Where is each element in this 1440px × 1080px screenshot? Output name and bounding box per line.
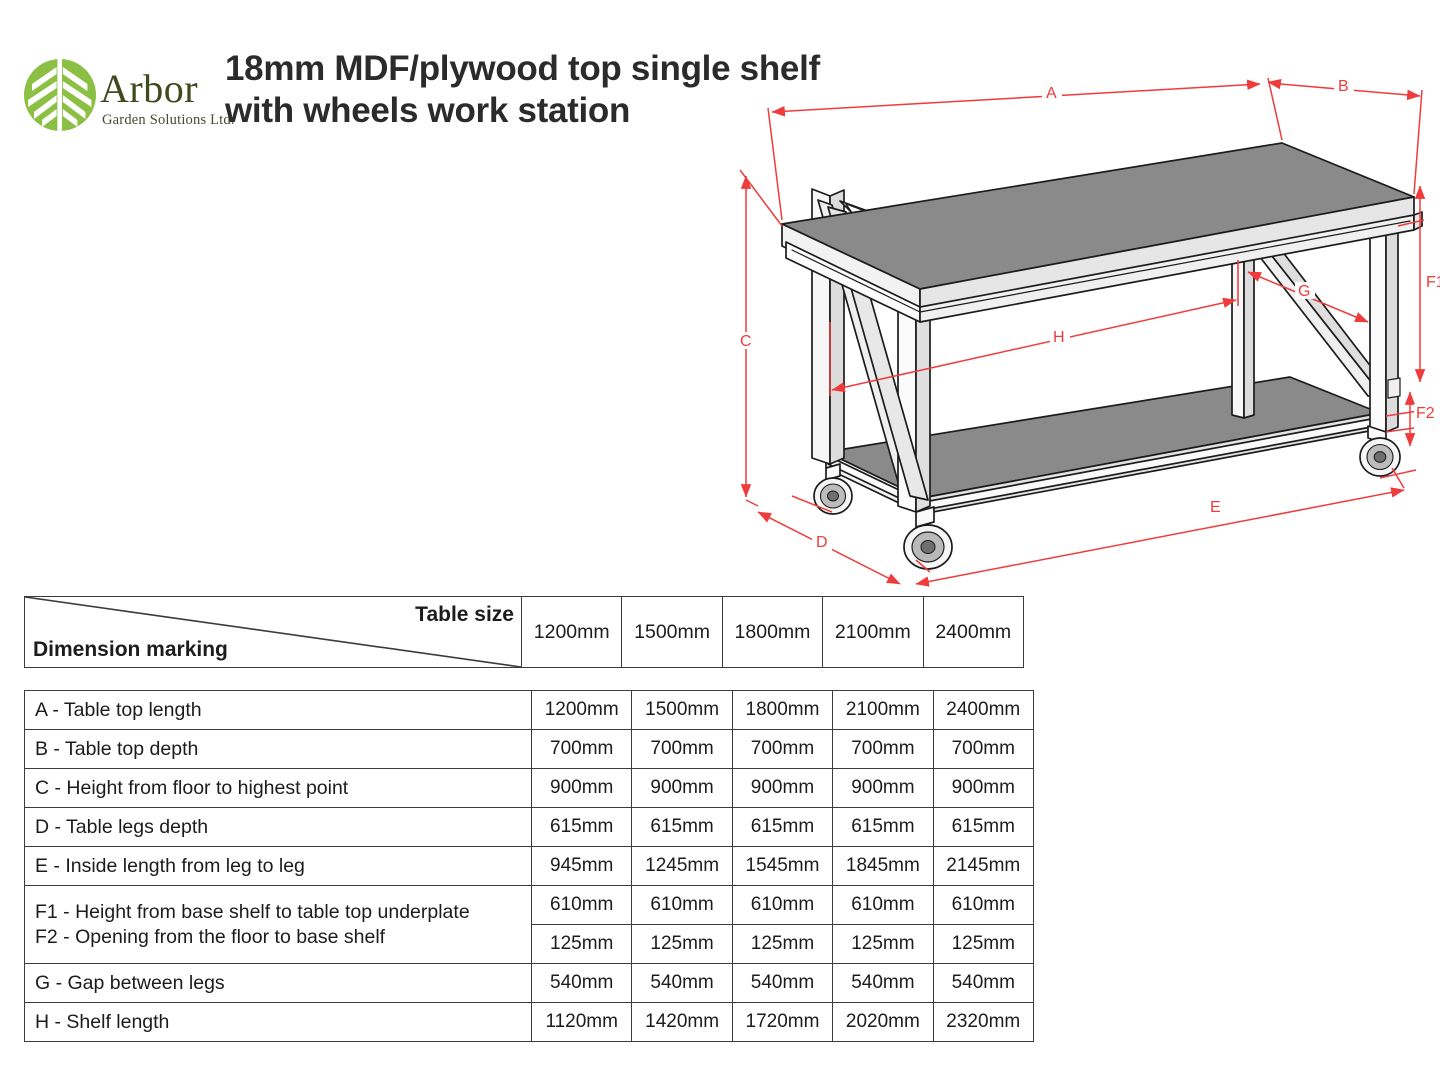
cell-G-2400: 540mm <box>933 964 1033 1003</box>
row-label-F1: F1 - Height from base shelf to table top… <box>35 900 531 925</box>
cell-E-1500: 1245mm <box>632 847 732 886</box>
dimension-label-A: A <box>1046 85 1057 102</box>
cell-B-1500: 700mm <box>632 730 732 769</box>
table-size-header: Table size Dimension marking 1200mm 1500… <box>24 596 1024 668</box>
dimension-label-F2: F2 <box>1416 405 1435 422</box>
row-label-B: B - Table top depth <box>25 730 532 769</box>
cell-C-1800: 900mm <box>732 769 832 808</box>
brand-wordmark: Arbor <box>100 69 198 109</box>
cell-G-1500: 540mm <box>632 964 732 1003</box>
row-label-G: G - Gap between legs <box>25 964 532 1003</box>
dimension-values-table: A - Table top length 1200mm 1500mm 1800m… <box>24 690 1034 1042</box>
dimension-label-E: E <box>1210 499 1221 516</box>
cell-F2-2100: 125mm <box>833 925 933 964</box>
cell-H-1800: 1720mm <box>732 1003 832 1042</box>
cell-F1-1800: 610mm <box>732 886 832 925</box>
cell-E-2400: 2145mm <box>933 847 1033 886</box>
dimension-label-H: H <box>1053 329 1065 346</box>
dimension-label-G: G <box>1298 283 1310 300</box>
table-row: G - Gap between legs 540mm 540mm 540mm 5… <box>25 964 1034 1003</box>
table-row: A - Table top length 1200mm 1500mm 1800m… <box>25 691 1034 730</box>
row-label-D: D - Table legs depth <box>25 808 532 847</box>
cell-A-1500: 1500mm <box>632 691 732 730</box>
cell-D-2400: 615mm <box>933 808 1033 847</box>
table-row: C - Height from floor to highest point 9… <box>25 769 1034 808</box>
dimension-label-D: D <box>816 534 828 551</box>
cell-B-1800: 700mm <box>732 730 832 769</box>
cell-D-2100: 615mm <box>833 808 933 847</box>
cell-B-1200: 700mm <box>532 730 632 769</box>
dimension-label-C: C <box>740 333 752 350</box>
cell-A-1200: 1200mm <box>532 691 632 730</box>
table-row: D - Table legs depth 615mm 615mm 615mm 6… <box>25 808 1034 847</box>
cell-D-1200: 615mm <box>532 808 632 847</box>
table-row: H - Shelf length 1120mm 1420mm 1720mm 20… <box>25 1003 1034 1042</box>
workbench-isometric-drawing: A B C D E F1 F2 G H <box>720 60 1440 590</box>
header-corner-cell: Table size Dimension marking <box>25 597 522 668</box>
cell-B-2100: 700mm <box>833 730 933 769</box>
row-label-A: A - Table top length <box>25 691 532 730</box>
cell-G-1200: 540mm <box>532 964 632 1003</box>
size-column-header-1800: 1800mm <box>722 597 822 668</box>
leaf-circle-icon <box>22 57 98 133</box>
cell-G-1800: 540mm <box>732 964 832 1003</box>
cell-F2-1200: 125mm <box>532 925 632 964</box>
cell-F1-1500: 610mm <box>632 886 732 925</box>
cell-C-1200: 900mm <box>532 769 632 808</box>
cell-B-2400: 700mm <box>933 730 1033 769</box>
cell-F1-2400: 610mm <box>933 886 1033 925</box>
cell-D-1800: 615mm <box>732 808 832 847</box>
table-row: F1 - Height from base shelf to table top… <box>25 886 1034 925</box>
cell-E-1200: 945mm <box>532 847 632 886</box>
cell-F2-1800: 125mm <box>732 925 832 964</box>
size-column-header-2400: 2400mm <box>923 597 1023 668</box>
cell-C-2100: 900mm <box>833 769 933 808</box>
datasheet-page: Arbor Garden Solutions Ltd. 18mm MDF/ply… <box>0 0 1440 1080</box>
table-header-row: Table size Dimension marking 1200mm 1500… <box>25 597 1024 668</box>
header-table-size-label: Table size <box>415 603 514 627</box>
cell-C-1500: 900mm <box>632 769 732 808</box>
cell-D-1500: 615mm <box>632 808 732 847</box>
cell-F2-1500: 125mm <box>632 925 732 964</box>
cell-E-2100: 1845mm <box>833 847 933 886</box>
row-label-C: C - Height from floor to highest point <box>25 769 532 808</box>
cell-F2-2400: 125mm <box>933 925 1033 964</box>
table-row: B - Table top depth 700mm 700mm 700mm 70… <box>25 730 1034 769</box>
brand-tagline: Garden Solutions Ltd. <box>102 113 235 128</box>
cell-H-2400: 2320mm <box>933 1003 1033 1042</box>
cell-A-2400: 2400mm <box>933 691 1033 730</box>
dimension-label-B: B <box>1338 78 1349 95</box>
cell-H-1500: 1420mm <box>632 1003 732 1042</box>
cell-G-2100: 540mm <box>833 964 933 1003</box>
cell-F1-2100: 610mm <box>833 886 933 925</box>
cell-C-2400: 900mm <box>933 769 1033 808</box>
row-label-F2: F2 - Opening from the floor to base shel… <box>35 925 531 950</box>
cell-H-2100: 2020mm <box>833 1003 933 1042</box>
dimension-label-F1: F1 <box>1426 274 1440 291</box>
cell-A-2100: 2100mm <box>833 691 933 730</box>
cell-A-1800: 1800mm <box>732 691 832 730</box>
size-column-header-1500: 1500mm <box>622 597 722 668</box>
cell-H-1200: 1120mm <box>532 1003 632 1042</box>
cell-E-1800: 1545mm <box>732 847 832 886</box>
size-column-header-2100: 2100mm <box>823 597 923 668</box>
row-label-H: H - Shelf length <box>25 1003 532 1042</box>
size-column-header-1200: 1200mm <box>522 597 622 668</box>
cell-F1-1200: 610mm <box>532 886 632 925</box>
table-row: E - Inside length from leg to leg 945mm … <box>25 847 1034 886</box>
row-label-F1-F2: F1 - Height from base shelf to table top… <box>25 886 532 964</box>
row-label-E: E - Inside length from leg to leg <box>25 847 532 886</box>
header-dimension-marking-label: Dimension marking <box>33 638 228 662</box>
brand-logo: Arbor Garden Solutions Ltd. <box>22 57 197 139</box>
